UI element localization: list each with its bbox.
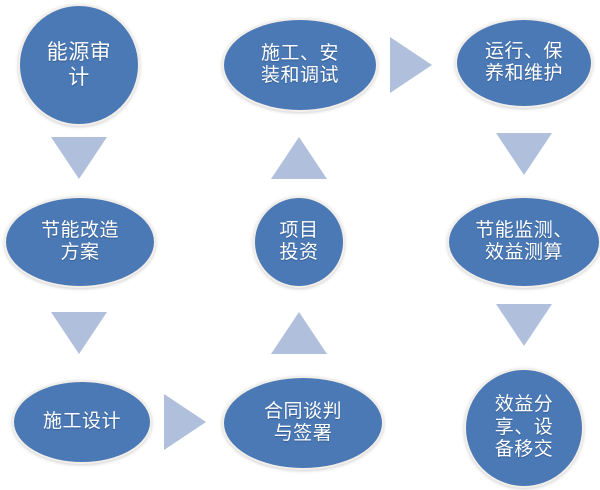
node-benefit-sharing-equipment-handover[interactable]: 效益分 享、设 备移交 <box>464 368 584 488</box>
node-operation-maintenance[interactable]: 运行、保 养和维护 <box>455 18 593 108</box>
node-label: 施工、安 装和调试 <box>261 43 339 88</box>
node-label: 运行、保 养和维护 <box>485 41 563 86</box>
arrow-down-icon <box>496 304 552 346</box>
node-construction-install-commission[interactable]: 施工、安 装和调试 <box>222 18 378 112</box>
arrow-up-icon <box>271 137 327 179</box>
flowchart-canvas: 能源审 计施工、安 装和调试运行、保 养和维护节能改造 方案项目 投资节能监测、… <box>0 0 600 490</box>
node-construction-design[interactable]: 施工设计 <box>12 380 152 464</box>
node-label: 节能改造 方案 <box>41 220 119 265</box>
node-label: 节能监测、 效益测算 <box>475 220 573 265</box>
node-contract-negotiation-signing[interactable]: 合同谈判 与签署 <box>222 376 384 470</box>
node-energy-audit[interactable]: 能源审 计 <box>18 4 140 126</box>
arrow-down-icon <box>51 137 107 179</box>
arrow-down-icon <box>51 312 107 354</box>
arrow-down-icon <box>496 133 552 175</box>
node-energy-saving-retrofit-plan[interactable]: 节能改造 方案 <box>4 196 156 288</box>
node-label: 效益分 享、设 备移交 <box>495 394 554 461</box>
node-label: 能源审 计 <box>47 40 112 90</box>
node-label: 合同谈判 与签署 <box>264 401 342 446</box>
arrow-up-icon <box>271 312 327 354</box>
node-monitoring-benefit-calculation[interactable]: 节能监测、 效益测算 <box>447 196 600 288</box>
arrow-right-icon <box>390 37 432 93</box>
arrow-right-icon <box>164 394 206 450</box>
node-label: 施工设计 <box>43 411 121 433</box>
node-label: 项目 投资 <box>279 220 318 265</box>
node-project-investment[interactable]: 项目 投资 <box>253 196 345 288</box>
